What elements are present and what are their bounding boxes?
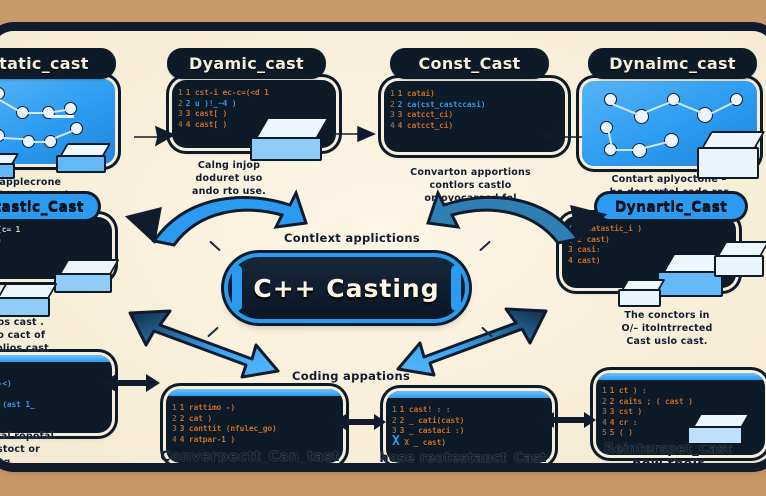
stack-icon-topleft-2 <box>0 153 18 179</box>
graph-node <box>730 93 743 106</box>
code-line: ncat 2 (ast 1_ <box>0 400 104 411</box>
code-line: 33 catcct_ci) <box>390 110 557 121</box>
graph-edge <box>614 149 634 151</box>
panel-header-dynartic-cast: Dynartic_Cast <box>597 194 745 219</box>
stack-icon-midright-c <box>618 279 662 307</box>
graph-edge <box>33 141 46 143</box>
panel-header-dyamic-cast: Dyamic_cast <box>169 50 324 77</box>
panel-blurb-reotestapct: hose reotestapct_Cast <box>358 452 568 463</box>
code-line: 44 ratpar-1 ) <box>172 435 335 446</box>
arrow-second-to-third <box>328 121 376 147</box>
panel-header-ctatic-cast: ctatic_cast <box>0 50 114 77</box>
stack-icon-midleft-a <box>54 259 116 293</box>
panel-blurb-converpectt: Converpectt_Can_tast <box>155 451 345 463</box>
stack-icon-midright-b <box>714 241 764 277</box>
terminal-titlebar <box>166 389 343 396</box>
mid-label-upper: Contlext applictions <box>284 231 420 245</box>
panel-header-const-cast: Const_Cast <box>392 50 547 77</box>
panel-blurb-stastic-cast: w s cos cast . e cato cact of or feolios… <box>0 316 110 355</box>
hub-edge-left <box>232 265 242 311</box>
infographic-canvas: ctatic_cast <box>0 0 766 496</box>
arrow-topleft-to-second <box>132 121 176 147</box>
code-line: 22 ca(cst_castccasi) <box>390 100 557 111</box>
stack-icon-topright <box>697 131 763 179</box>
graph-edge <box>646 101 671 112</box>
graph-edge <box>710 102 734 115</box>
panel-terminal-bottomleft: -) : nmoct=-<) cast-) ncat 2 (ast 1_ at-… <box>0 355 112 433</box>
code-line: at-] <box>0 410 104 421</box>
code-line: 11 cast! : : <box>392 405 544 416</box>
code-line: 22 cat ) <box>172 414 335 425</box>
code-line: cast-(c= 1 <box>0 225 104 236</box>
graph-node <box>70 122 83 135</box>
panel-header-label: Dyamic_cast <box>189 54 304 73</box>
arrow-midleft-bidirectional <box>100 371 162 395</box>
code-line: canor) <box>0 236 104 247</box>
code-line: 11 catai) <box>390 89 557 100</box>
graph-edge <box>675 101 702 113</box>
code-line: X X _ cast) <box>392 437 544 449</box>
panel-header-label: Dynaimc_cast <box>609 54 736 73</box>
arrow-bottomleft-bidirectional <box>332 411 388 433</box>
panel-header-label: ctatic_cast <box>0 54 89 73</box>
graph-edge <box>48 115 74 118</box>
center-hub-cpp-casting: C++ Casting <box>228 257 465 319</box>
panel-blurb-reinterspet: Reinterspet_Cast how their assorvactione… <box>578 442 758 463</box>
panel-header-label: Stastic_Cast <box>0 199 84 215</box>
panel-blurb-dynartic-cast: The conctors in O/– itolntrrected Cast u… <box>582 309 752 348</box>
code-line: cast-) <box>0 389 104 400</box>
code-line: 22 caits ; ( cast ) <box>602 397 757 408</box>
panel-header-label: Dynartic_Cast <box>615 199 728 215</box>
arrow-third-to-fourth <box>540 123 584 149</box>
code-line: 11 rattimo -) <box>172 403 335 414</box>
stack-icon-bottomright <box>687 413 749 445</box>
graph-node <box>632 143 647 158</box>
arrow-bottomcenter-bidirectional <box>540 409 598 431</box>
graph-edge <box>644 141 668 148</box>
panel-terminal-const-cast: 11 catai) 22 ca(cst_castccasi) 33 catcct… <box>384 81 565 152</box>
hub-edge-right <box>451 265 461 311</box>
code-line: 11 cst-i ec-c=(<d 1 <box>178 88 328 99</box>
center-hub-title: C++ Casting <box>253 274 439 303</box>
code-line: 33 _ castaci :) <box>392 426 544 437</box>
arrow-curve-right-to-hub <box>424 183 614 253</box>
code-line: 11 ct ) : <box>602 386 757 397</box>
terminal-titlebar <box>386 391 552 398</box>
code-line: 22 u )!_~4 ) <box>178 99 328 110</box>
code-line: nmoct=-<) <box>0 379 104 390</box>
stack-icon-dyamic-cast <box>250 117 328 161</box>
code-line: -) : <box>0 368 104 379</box>
panel-header-dynaimc-cast: Dynaimc_cast <box>590 50 755 77</box>
mid-label-lower: Coding appations <box>292 369 410 383</box>
panel-header-label: Const_Cast <box>418 54 520 73</box>
terminal-titlebar <box>596 373 765 380</box>
main-card: ctatic_cast <box>0 31 766 463</box>
code-line: 33 canttit (nfulec_go) <box>172 424 335 435</box>
graph-node <box>0 129 5 142</box>
stack-icon-midleft-b <box>0 283 54 317</box>
graph-edge <box>55 130 72 138</box>
code-line: 44 catcct_ci) <box>390 121 557 132</box>
stack-icon-topleft <box>56 143 108 173</box>
card-inner-background: ctatic_cast <box>0 31 766 463</box>
panel-header-stastic-cast: Stastic_Cast <box>0 194 98 219</box>
graph-node <box>697 107 713 123</box>
graph-edge <box>3 137 24 140</box>
graph-edge <box>612 103 639 115</box>
code-line: co] 1 <box>0 246 104 257</box>
graph-edge <box>27 112 44 114</box>
panel-blurb-bottomleft: jootofal ropofal nlnrostoct or etachtg. <box>0 430 108 463</box>
graph-node <box>0 87 5 100</box>
code-line: 22 _ cati(cast) <box>392 416 544 427</box>
terminal-titlebar <box>0 355 112 362</box>
